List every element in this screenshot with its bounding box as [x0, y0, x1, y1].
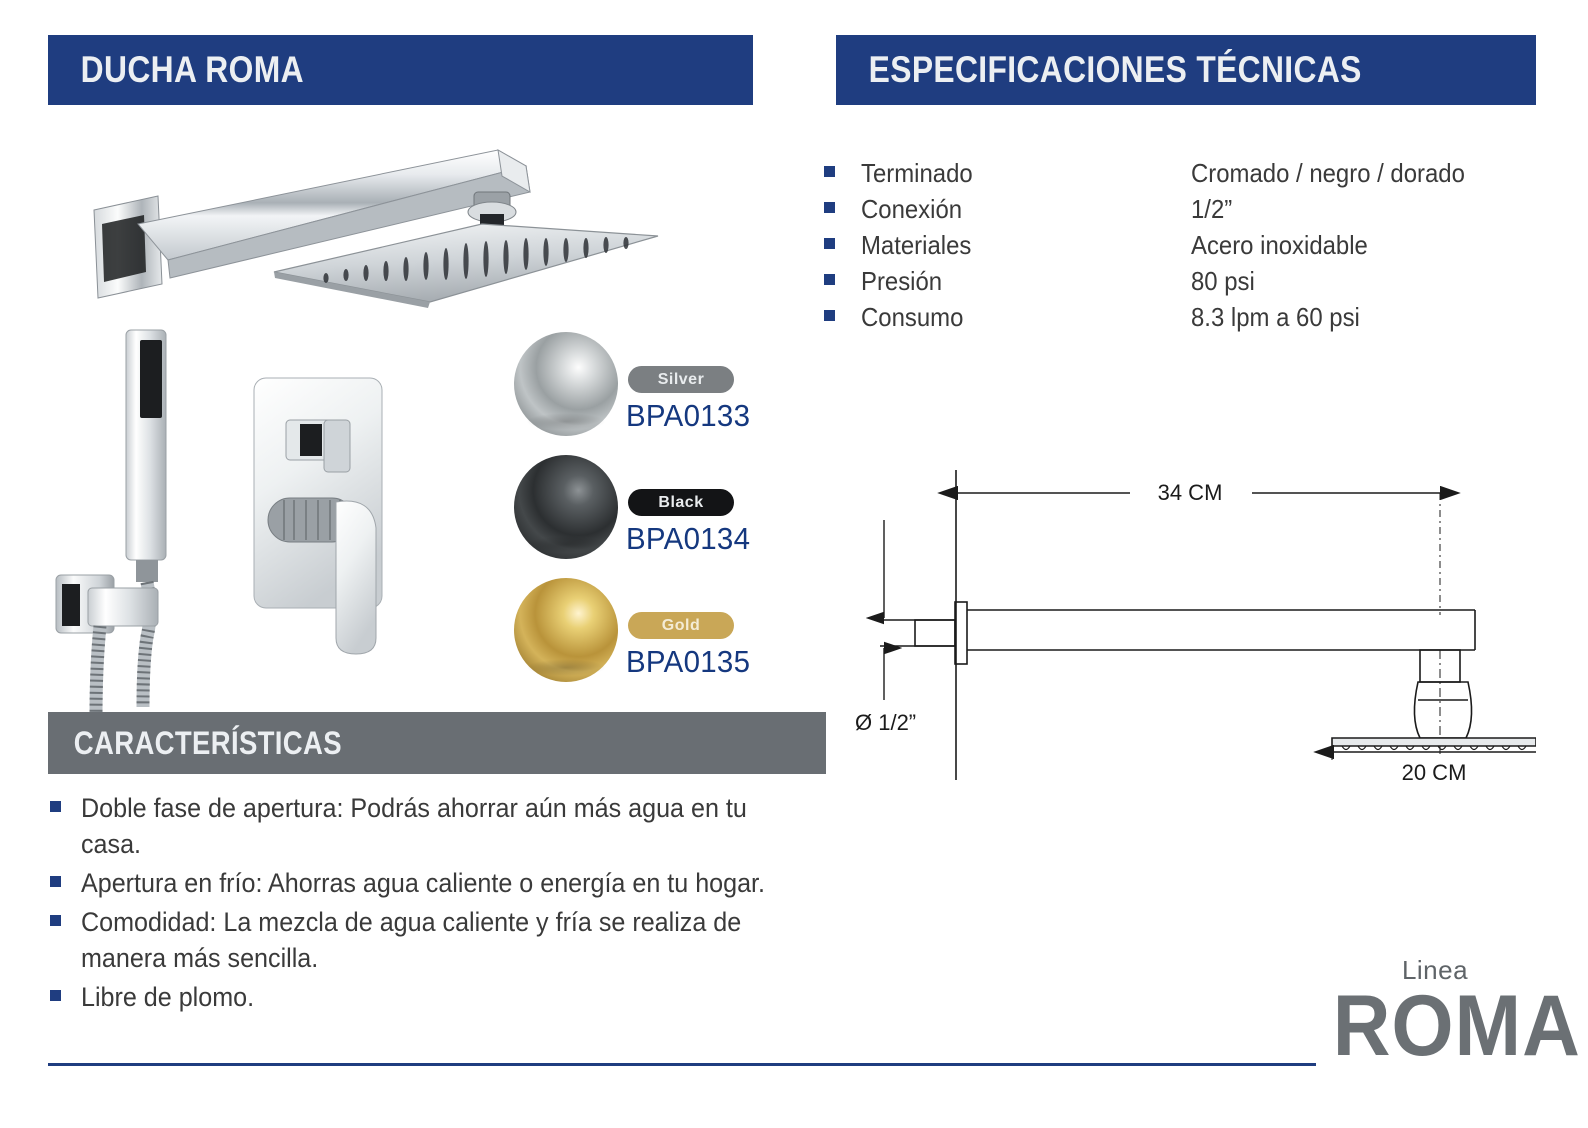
- bullet-square-icon: [824, 202, 835, 213]
- feature-text: Libre de plomo.: [81, 979, 796, 1015]
- finish-options-list: Silver BPA0133 Black BPA0134 Gold BPA013…: [500, 328, 760, 697]
- finish-option[interactable]: Gold BPA0135: [500, 574, 760, 697]
- bullet-square-icon: [824, 166, 835, 177]
- features-heading: CARACTERÍSTICAS: [48, 725, 342, 762]
- finish-name-badge: Black: [628, 489, 734, 516]
- spec-value: 80 psi: [1191, 266, 1255, 297]
- feature-text: Doble fase de apertura: Podrás ahorrar a…: [81, 790, 796, 862]
- product-title-bar: DUCHA ROMA: [48, 35, 753, 105]
- feature-text: Apertura en frío: Ahorras agua caliente …: [81, 865, 796, 901]
- specifications-list: Terminado Cromado / negro / dorado Conex…: [824, 158, 1536, 338]
- feature-item: Libre de plomo.: [50, 979, 850, 1015]
- specifications-title-bar: ESPECIFICACIONES TÉCNICAS: [836, 35, 1536, 105]
- finish-swatch-silver-icon: [514, 332, 618, 436]
- product-spec-sheet: DUCHA ROMA ESPECIFICACIONES TÉCNICAS Ter…: [0, 0, 1588, 1128]
- dimension-label-length: 34 CM: [1158, 480, 1223, 505]
- shower-arm-photo: [78, 132, 668, 332]
- dimension-label-diameter: Ø 1/2”: [855, 710, 916, 735]
- bullet-square-icon: [824, 274, 835, 285]
- page-title: DUCHA ROMA: [48, 49, 304, 91]
- spec-label: Terminado: [861, 158, 1165, 189]
- bullet-square-icon: [50, 990, 61, 1001]
- bullet-square-icon: [50, 915, 61, 926]
- brand-logo: Linea ROMA: [1325, 955, 1545, 1067]
- spec-label: Presión: [861, 266, 1165, 297]
- features-list: Doble fase de apertura: Podrás ahorrar a…: [50, 790, 850, 1018]
- bullet-square-icon: [50, 876, 61, 887]
- handshower-and-mixer-photo: [48, 320, 468, 720]
- specifications-heading: ESPECIFICACIONES TÉCNICAS: [836, 49, 1362, 91]
- spec-row: Terminado Cromado / negro / dorado: [824, 158, 1536, 194]
- spec-label: Materiales: [861, 230, 1165, 261]
- spec-value: 1/2”: [1191, 194, 1232, 225]
- finish-sku: BPA0135: [626, 644, 750, 680]
- bullet-square-icon: [50, 801, 61, 812]
- finish-name-badge: Silver: [628, 366, 734, 393]
- spec-label: Conexión: [861, 194, 1165, 225]
- spec-row: Conexión 1/2”: [824, 194, 1536, 230]
- spec-row: Materiales Acero inoxidable: [824, 230, 1536, 266]
- dimension-label-head-width: 20 CM: [1402, 760, 1467, 784]
- footer-divider: [48, 1063, 1316, 1066]
- spec-value: Acero inoxidable: [1191, 230, 1368, 261]
- spec-row: Consumo 8.3 lpm a 60 psi: [824, 302, 1536, 338]
- feature-item: Doble fase de apertura: Podrás ahorrar a…: [50, 790, 850, 862]
- bullet-square-icon: [824, 310, 835, 321]
- feature-item: Comodidad: La mezcla de agua caliente y …: [50, 904, 850, 976]
- feature-text: Comodidad: La mezcla de agua caliente y …: [81, 904, 796, 976]
- finish-swatch-black-icon: [514, 455, 618, 559]
- feature-item: Apertura en frío: Ahorras agua caliente …: [50, 865, 850, 901]
- spec-value: Cromado / negro / dorado: [1191, 158, 1465, 189]
- finish-option[interactable]: Silver BPA0133: [500, 328, 760, 451]
- finish-name-badge: Gold: [628, 612, 734, 639]
- logo-roma-text: ROMA: [1333, 985, 1538, 1067]
- finish-sku: BPA0134: [626, 521, 750, 557]
- finish-sku: BPA0133: [626, 398, 750, 434]
- bullet-square-icon: [824, 238, 835, 249]
- spec-label: Consumo: [861, 302, 1165, 333]
- spec-row: Presión 80 psi: [824, 266, 1536, 302]
- finish-option[interactable]: Black BPA0134: [500, 451, 760, 574]
- features-title-bar: CARACTERÍSTICAS: [48, 712, 826, 774]
- spec-value: 8.3 lpm a 60 psi: [1191, 302, 1360, 333]
- technical-dimension-drawing: 34 CM 34 CM Ø 1/2” 20 CM: [830, 450, 1536, 784]
- finish-swatch-gold-icon: [514, 578, 618, 682]
